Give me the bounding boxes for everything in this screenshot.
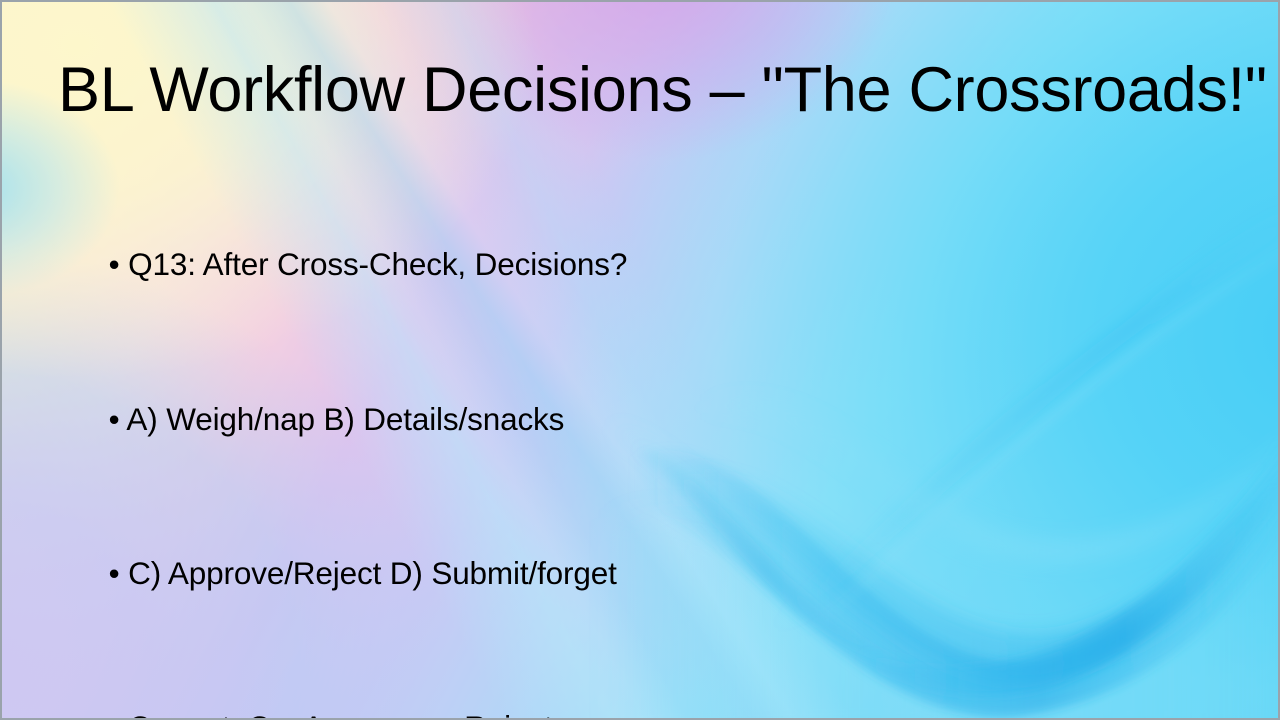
bullet-glyph: • bbox=[109, 246, 120, 282]
bullet-item: • Q13: After Cross-Check, Decisions? bbox=[57, 188, 697, 342]
presentation-slide: BL Workflow Decisions – "The Crossroads!… bbox=[0, 0, 1280, 720]
bullet-item: • C) Approve/Reject D) Submit/forget bbox=[57, 496, 697, 650]
bullet-glyph: • bbox=[109, 555, 120, 591]
bullet-glyph: • bbox=[109, 401, 120, 437]
bullet-text: A) Weigh/nap B) Details/snacks bbox=[126, 401, 564, 437]
bullet-item: • A) Weigh/nap B) Details/snacks bbox=[57, 342, 697, 496]
bullet-glyph: • bbox=[109, 709, 120, 720]
slide-title: BL Workflow Decisions – "The Crossroads!… bbox=[58, 54, 1238, 127]
bullet-text: Q13: After Cross-Check, Decisions? bbox=[128, 246, 627, 282]
bullet-item: • Correct: C – Approve or Reject bbox=[57, 651, 697, 720]
bullet-text: Correct: C – Approve or Reject bbox=[128, 709, 552, 720]
slide-body-bullet-list: • Q13: After Cross-Check, Decisions? • A… bbox=[57, 188, 697, 720]
bullet-text: C) Approve/Reject D) Submit/forget bbox=[128, 555, 617, 591]
